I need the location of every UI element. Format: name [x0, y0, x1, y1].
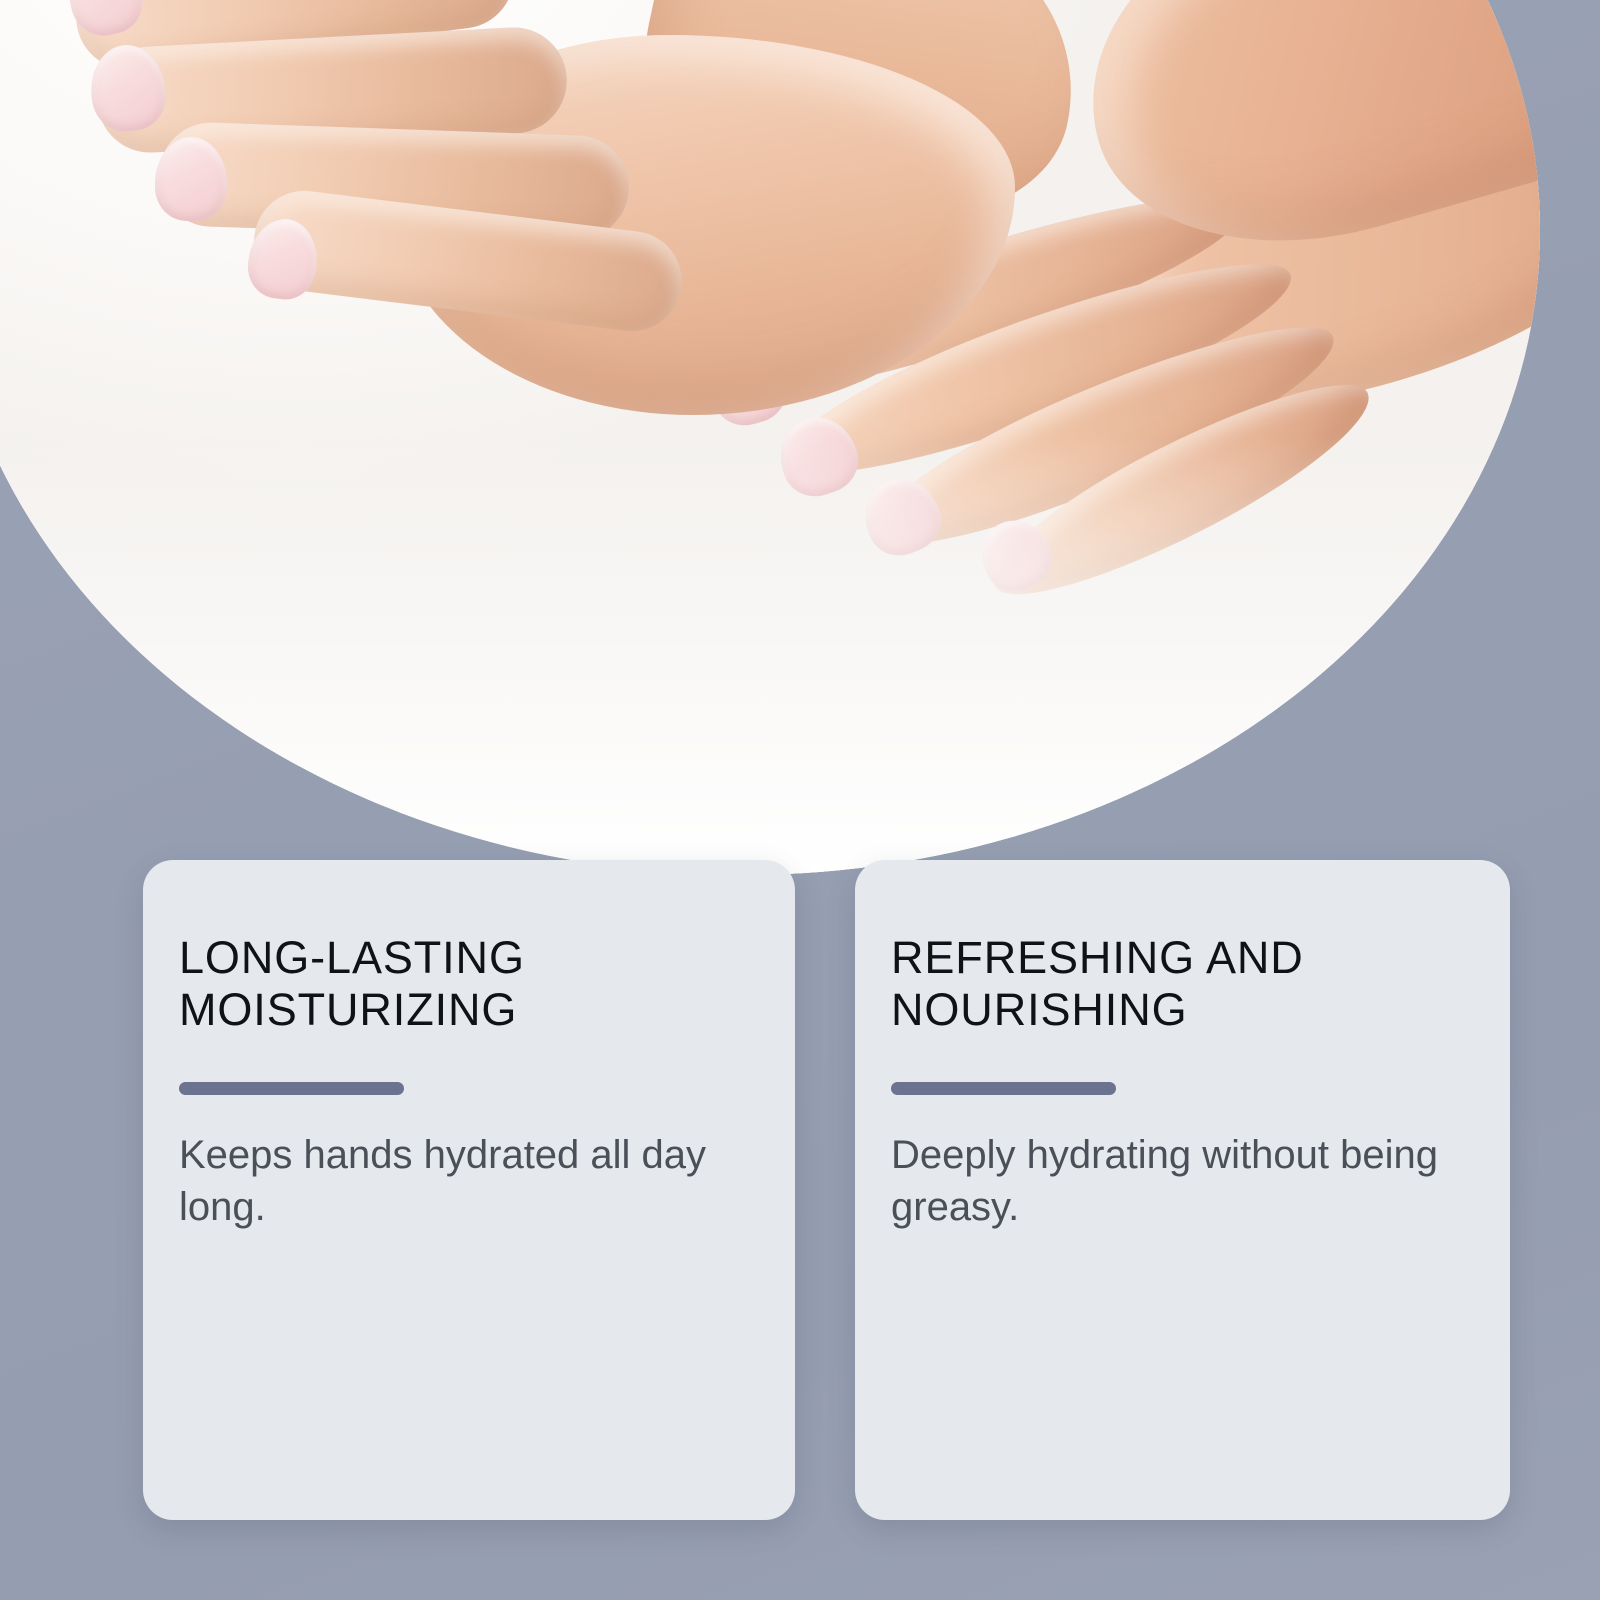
feature-card-description: Keeps hands hydrated all day long. [179, 1129, 739, 1233]
feature-card-title: LONG-LASTING MOISTURIZING [179, 932, 749, 1036]
feature-card-refreshing-and-nourishing[interactable]: REFRESHING AND NOURISHING Deeply hydrati… [855, 860, 1510, 1520]
feature-card-title: REFRESHING AND NOURISHING [891, 932, 1464, 1036]
accent-divider-bar [179, 1082, 404, 1095]
feature-card-description: Deeply hydrating without being greasy. [891, 1129, 1451, 1233]
product-feature-poster: LONG-LASTING MOISTURIZING Keeps hands hy… [0, 0, 1600, 1600]
feature-card-long-lasting-moisturizing[interactable]: LONG-LASTING MOISTURIZING Keeps hands hy… [143, 860, 795, 1520]
accent-divider-bar [891, 1082, 1116, 1095]
feature-card-row: LONG-LASTING MOISTURIZING Keeps hands hy… [0, 0, 1600, 1600]
